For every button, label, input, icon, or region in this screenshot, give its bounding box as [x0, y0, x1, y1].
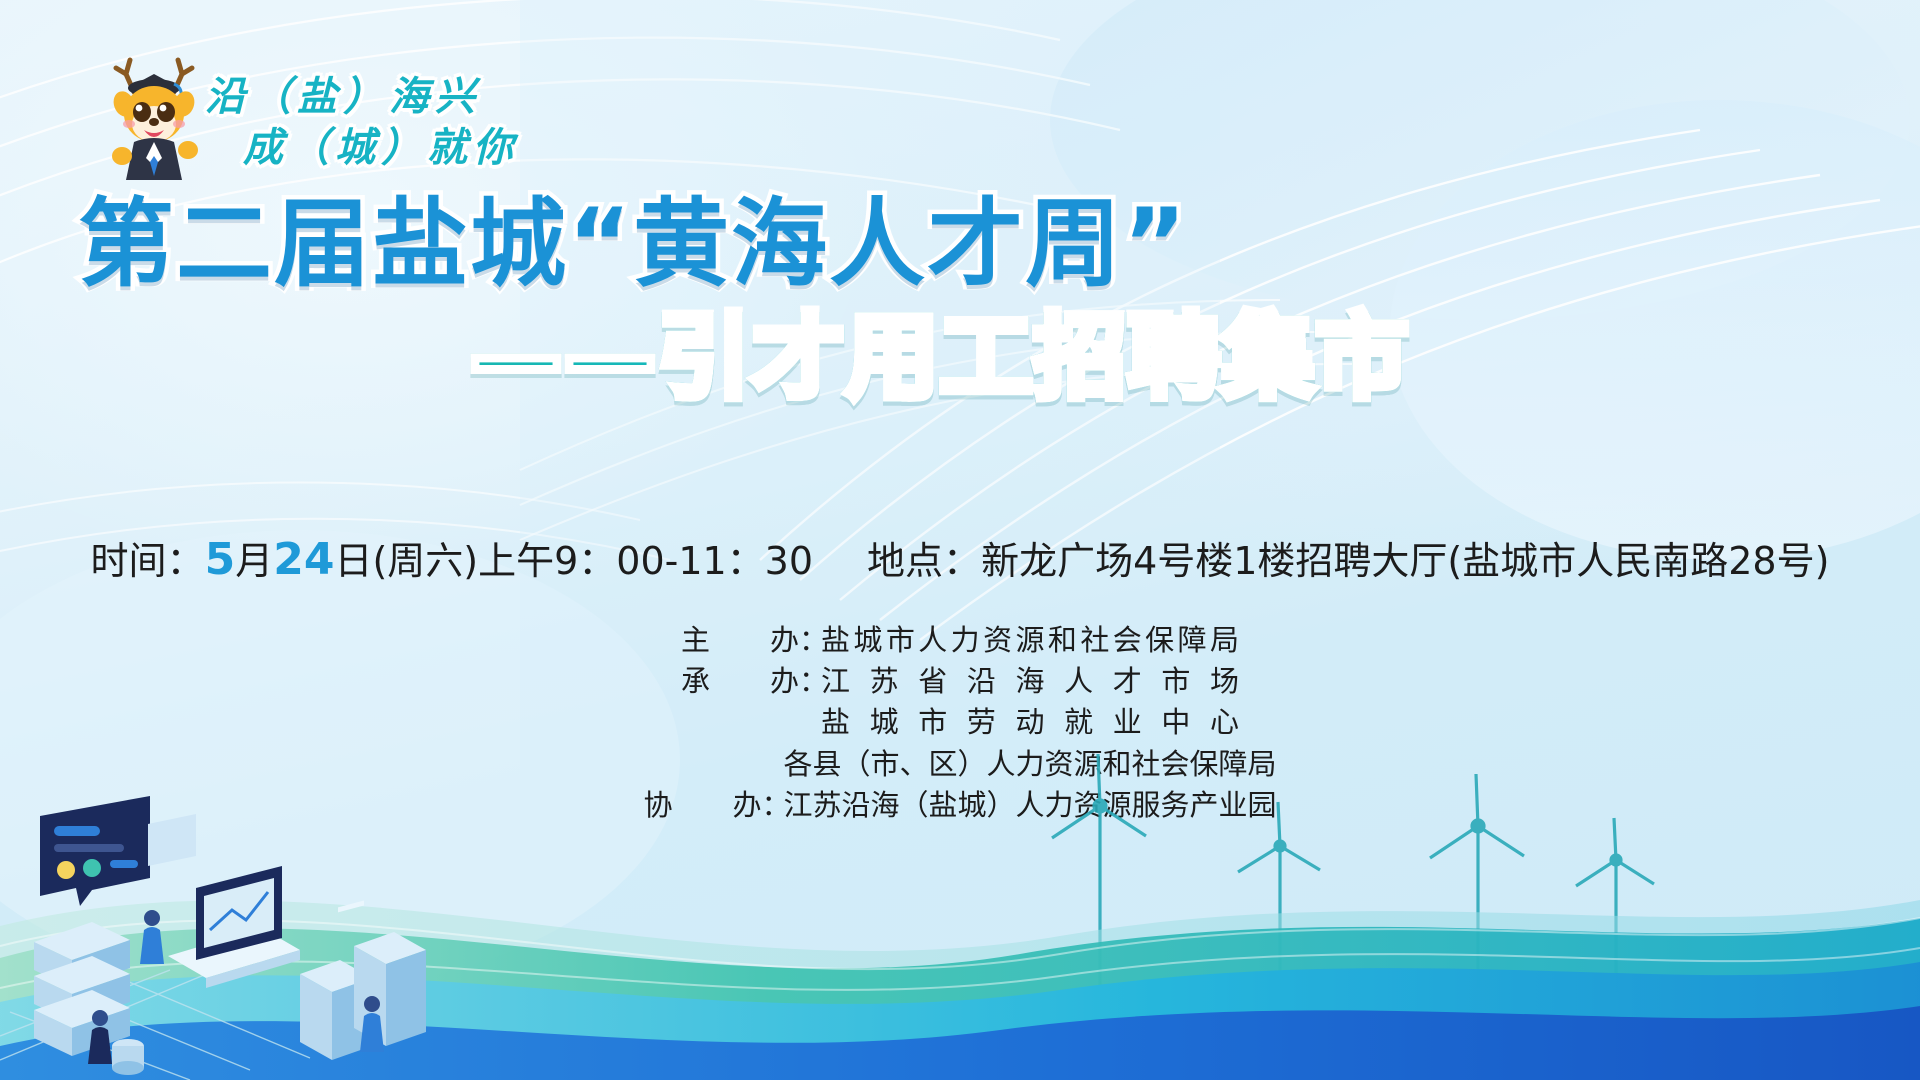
bottom-artwork [0, 660, 1920, 1080]
organizer-value: 盐城市人力资源和社会保障局 [821, 620, 1239, 661]
organizer-label: 主办 [681, 620, 799, 661]
slogan-line-2: 成（城）就你 [205, 127, 725, 170]
slogan-line-1: 沿（盐）海兴 [205, 76, 725, 119]
tech-illustration [0, 760, 520, 1080]
time-month-unit: 月 [235, 539, 273, 583]
place-value: 新龙广场4号楼1楼招聘大厅(盐城市人民南路28号) [981, 539, 1829, 583]
poster-root: 沿（盐）海兴 成（城）就你 第二届盐城“黄海人才周” ——引才用工招聘集市 时间… [0, 0, 1920, 1080]
event-info-line: 时间：5月24日(周六)上午9：00-11：30地点：新龙广场4号楼1楼招聘大厅… [0, 530, 1920, 585]
time-day-value: 24 [273, 534, 334, 585]
main-title: 第二届盐城“黄海人才周” [78, 196, 1188, 292]
time-month-value: 5 [205, 534, 236, 585]
organizer-colon: ： [799, 620, 821, 661]
time-label: 时间： [91, 539, 205, 583]
slogan: 沿（盐）海兴 成（城）就你 [205, 76, 725, 170]
deer-mascot-icon [96, 52, 216, 180]
sub-title: ——引才用工招聘集市 [470, 312, 1410, 404]
organizer-row: 主办 ： 盐城市人力资源和社会保障局 [0, 620, 1920, 661]
time-rest: 日(周六)上午9：00-11：30 [334, 539, 813, 583]
place-label: 地点： [867, 539, 981, 583]
